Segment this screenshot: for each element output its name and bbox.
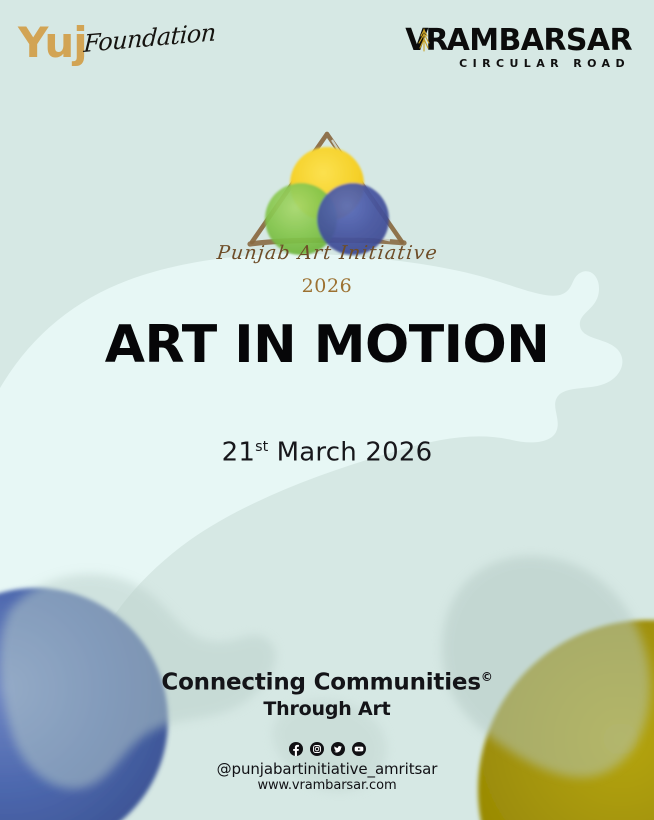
facebook-icon[interactable] bbox=[289, 742, 303, 756]
footer: @punjabartinitiative_amritsar www.vramba… bbox=[0, 760, 654, 794]
yuj-wordmark: Yuj bbox=[18, 22, 87, 64]
youtube-icon[interactable] bbox=[352, 742, 366, 756]
tagline: Connecting Communities© Through Art bbox=[0, 663, 654, 721]
social-handle[interactable]: @punjabartinitiative_amritsar bbox=[0, 760, 654, 778]
copyright-mark: © bbox=[481, 670, 493, 684]
ambarsar-wordmark: AMBARSAR bbox=[447, 26, 632, 56]
instagram-icon[interactable] bbox=[310, 742, 324, 756]
event-date-ordinal: st bbox=[255, 439, 268, 455]
vr-logo-row: VR AMBARSAR bbox=[405, 26, 632, 56]
event-poster: Yuj Foundation VR AMBARSAR CIRCULAR ROAD bbox=[0, 0, 654, 820]
circular-road-subtitle: CIRCULAR ROAD bbox=[405, 57, 630, 71]
social-links bbox=[0, 742, 654, 756]
tagline-line-2: Through Art bbox=[0, 697, 654, 721]
event-date-day: 21 bbox=[222, 438, 255, 468]
tagline-line-1-text: Connecting Communities bbox=[161, 670, 480, 696]
vr-ornament-icon bbox=[417, 27, 431, 53]
vr-monogram: VR bbox=[405, 26, 445, 56]
event-date: 21st March 2026 bbox=[0, 432, 654, 468]
page-title: ART IN MOTION bbox=[0, 316, 654, 374]
foundation-script: Foundation bbox=[83, 20, 216, 56]
punjab-art-initiative-emblem: Punjab Art Initiative 2026 bbox=[0, 118, 654, 296]
event-date-rest: March 2026 bbox=[268, 438, 432, 468]
twitter-icon[interactable] bbox=[331, 742, 345, 756]
emblem-year: 2026 bbox=[302, 276, 353, 296]
yuj-foundation-logo: Yuj Foundation bbox=[18, 22, 219, 74]
tagline-line-1: Connecting Communities© bbox=[0, 663, 654, 697]
vr-ambarsar-logo: VR AMBARSAR CIRCULAR ROAD bbox=[405, 26, 632, 71]
website-url[interactable]: www.vrambarsar.com bbox=[0, 778, 654, 794]
emblem-script-text: Punjab Art Initiative bbox=[215, 242, 438, 264]
